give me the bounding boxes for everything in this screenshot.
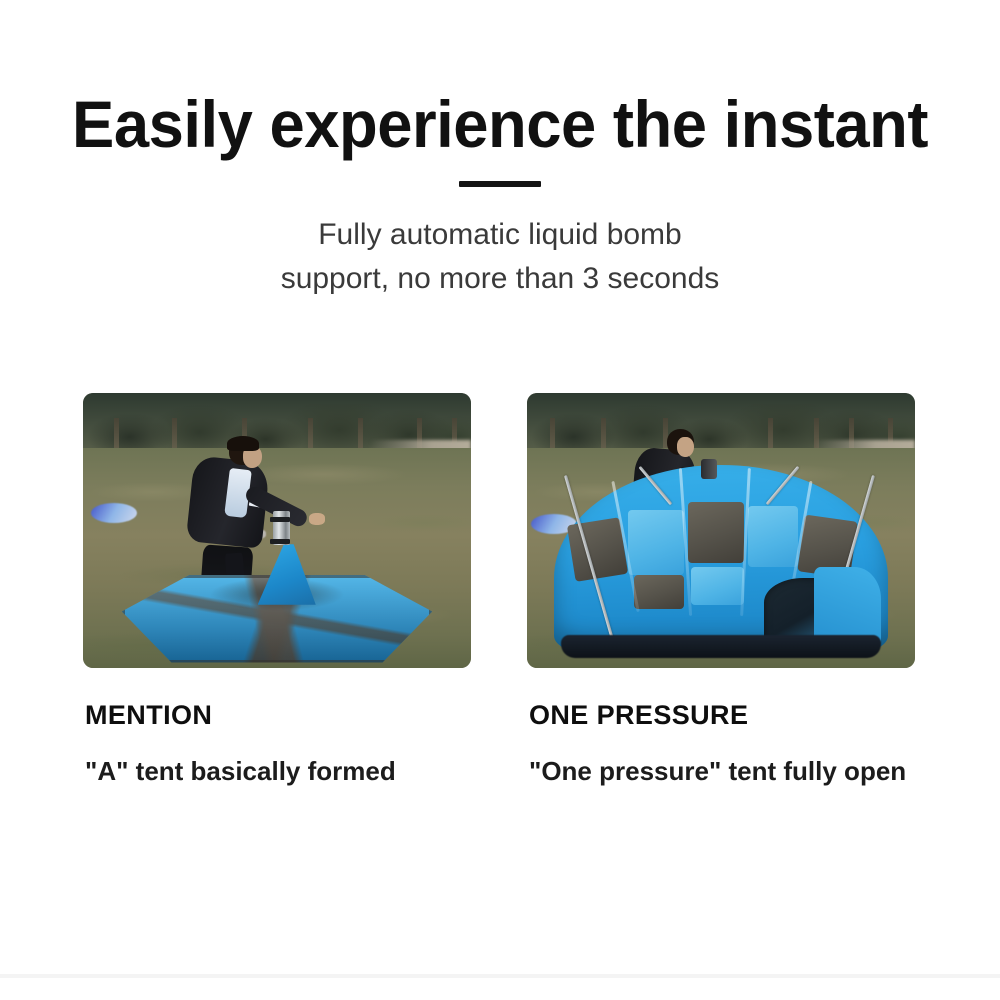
erected-dome-tent (554, 465, 888, 655)
tent-carry-bag (91, 503, 137, 523)
hub-band-bottom (270, 539, 290, 544)
mesh-panel (634, 575, 684, 609)
page-subtitle: Fully automatic liquid bomb support, no … (0, 213, 1000, 301)
hub-band-top (270, 517, 290, 522)
bottom-edge-band (0, 974, 1000, 978)
mesh-panel (688, 502, 745, 563)
caption-title: ONE PRESSURE (529, 698, 949, 732)
page-title: Easily experience the instant (20, 88, 980, 160)
light-panel (691, 567, 744, 605)
caption-description: "A" tent basically formed (85, 754, 505, 788)
caption-description: "One pressure" tent fully open (529, 754, 949, 788)
mesh-panel (567, 518, 629, 583)
caption-one-pressure: ONE PRESSURE "One pressure" tent fully o… (529, 698, 949, 788)
photo-one-pressure[interactable] (527, 393, 915, 668)
tent-base-skirt (561, 635, 881, 658)
caption-title: MENTION (85, 698, 505, 732)
tent-top-handle (701, 459, 717, 479)
title-divider (459, 181, 541, 187)
subtitle-line-2: support, no more than 3 seconds (0, 257, 1000, 301)
step-card-mention (83, 393, 471, 668)
light-panel (748, 506, 798, 567)
subtitle-line-1: Fully automatic liquid bomb (0, 213, 1000, 257)
photo-mention[interactable] (83, 393, 471, 668)
step-card-one-pressure (527, 393, 915, 668)
caption-mention: MENTION "A" tent basically formed (85, 698, 505, 788)
light-panel (628, 510, 685, 575)
